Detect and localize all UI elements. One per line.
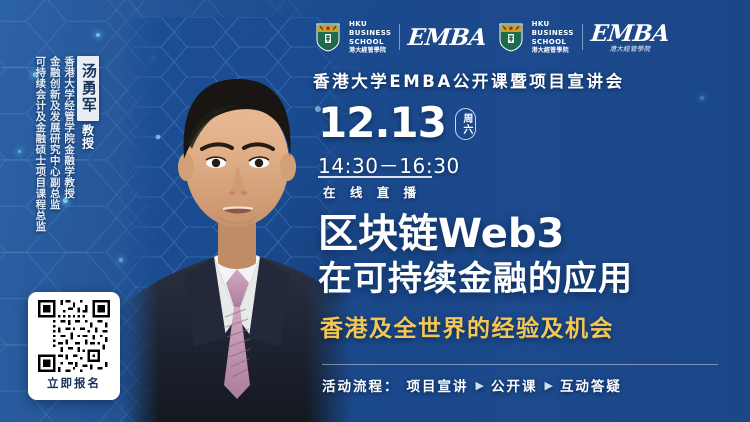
hku-line-3: SCHOOL	[349, 38, 391, 47]
date-divider	[318, 176, 432, 178]
event-time: 14:30－16:30	[318, 150, 460, 179]
hku-line-1: HKU	[532, 20, 574, 29]
registration-qr-card[interactable]: 立即报名	[28, 292, 120, 400]
logo-divider	[399, 24, 400, 50]
main-subtitle: 香港及全世界的经验及机会	[320, 318, 614, 341]
emba-word: EMBA	[590, 22, 671, 45]
qr-code-icon	[38, 300, 110, 372]
agenda-prefix: 活动流程：	[322, 375, 400, 395]
agenda-footer: 活动流程： 项目宣讲 ▶ 公开课 ▶ 互动答疑	[322, 375, 622, 395]
event-weekday-badge: 周六	[455, 108, 477, 140]
hku-crest-icon	[498, 23, 524, 52]
agenda-step-2: 公开课	[491, 375, 538, 395]
emba-wordmark-2: EMBA 港大經管學院	[591, 22, 669, 53]
hku-line-3: SCHOOL	[532, 38, 574, 47]
event-weekday: 周六	[459, 113, 472, 135]
event-date-row: 12.13 周六	[318, 104, 476, 143]
hku-line-cn: 港大經管學院	[532, 48, 574, 54]
hku-wordmark: HKU BUSINESS SCHOOL 港大經管學院	[532, 20, 574, 54]
arrow-right-icon: ▶	[476, 379, 484, 392]
event-live-label: 在 线 直 播	[323, 182, 421, 201]
hku-line-1: HKU	[349, 20, 391, 29]
arrow-right-icon: ▶	[544, 379, 552, 392]
logo-divider	[582, 24, 583, 50]
emba-word: EMBA	[407, 26, 488, 49]
qr-label: 立即报名	[47, 375, 101, 391]
hku-line-cn: 港大經管學院	[349, 48, 391, 54]
event-header-title: 香港大学EMBA公开课暨项目宣讲会	[313, 68, 625, 92]
event-poster: 汤勇军 教授 香港大学经管学院金融学教授 金融创新及发展研究中心副总监 可持续会…	[0, 0, 750, 422]
hku-crest-icon	[315, 23, 341, 52]
speaker-honorific: 教授	[80, 124, 97, 150]
logo-group-1: HKU BUSINESS SCHOOL 港大經管學院 EMBA	[315, 20, 487, 54]
footer-divider	[322, 364, 718, 365]
agenda-step-3: 互动答疑	[560, 375, 622, 395]
emba-subtext: 港大經管學院	[610, 46, 651, 53]
main-title-line-2: 在可持续金融的应用	[318, 262, 633, 296]
logo-group-2: HKU BUSINESS SCHOOL 港大經管學院 EMBA 港大經管學院	[498, 20, 670, 54]
emba-wordmark-1: EMBA	[408, 26, 486, 49]
main-title-line-1: 区块链Web3	[318, 214, 564, 254]
event-date: 12.13	[318, 104, 446, 143]
agenda-step-1: 项目宣讲	[407, 375, 469, 395]
hku-wordmark: HKU BUSINESS SCHOOL 港大經管學院	[349, 20, 391, 54]
hku-line-2: BUSINESS	[532, 29, 574, 38]
logo-bar: HKU BUSINESS SCHOOL 港大經管學院 EMBA	[315, 20, 669, 54]
hku-line-2: BUSINESS	[349, 29, 391, 38]
speaker-name: 汤勇军	[77, 56, 99, 121]
